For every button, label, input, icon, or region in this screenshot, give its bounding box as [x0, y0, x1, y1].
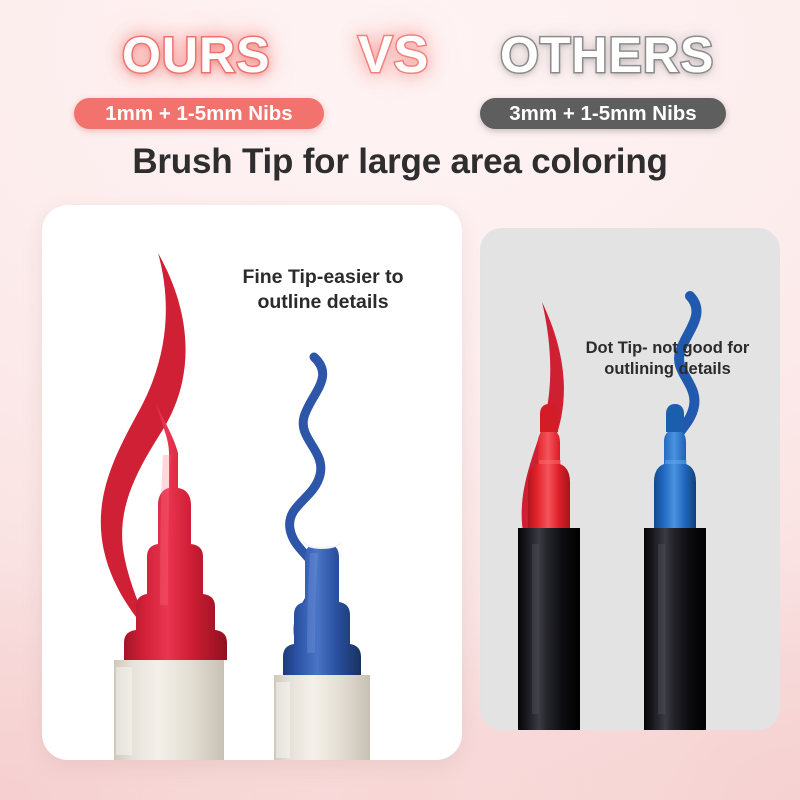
others-blue-pen	[644, 404, 706, 730]
ours-annotation-line-1: Fine Tip-easier to	[208, 265, 438, 290]
ours-nib-badge: 1mm + 1-5mm Nibs	[74, 98, 324, 129]
others-red-pen	[518, 404, 580, 730]
ours-annotation: Fine Tip-easier to outline details	[208, 265, 438, 315]
header-row: OURS VS OTHERS	[0, 26, 800, 88]
others-pens-illustration	[480, 228, 780, 730]
others-title: OTHERS	[500, 26, 714, 84]
others-card: Dot Tip- not good for outlining details	[480, 228, 780, 730]
ours-annotation-line-2: outline details	[208, 290, 438, 315]
vs-title: VS	[358, 26, 429, 84]
ours-blue-pen	[274, 533, 370, 760]
ours-title: OURS	[122, 26, 270, 84]
others-annotation: Dot Tip- not good for outlining details	[560, 338, 775, 380]
others-annotation-line-2: outlining details	[560, 359, 775, 380]
main-heading: Brush Tip for large area coloring	[0, 140, 800, 184]
comparison-infographic: OURS VS OTHERS 1mm + 1-5mm Nibs 3mm + 1-…	[0, 0, 800, 800]
others-nib-badge: 3mm + 1-5mm Nibs	[480, 98, 726, 129]
ours-card: Fine Tip-easier to outline details	[42, 205, 462, 760]
others-annotation-line-1: Dot Tip- not good for	[560, 338, 775, 359]
